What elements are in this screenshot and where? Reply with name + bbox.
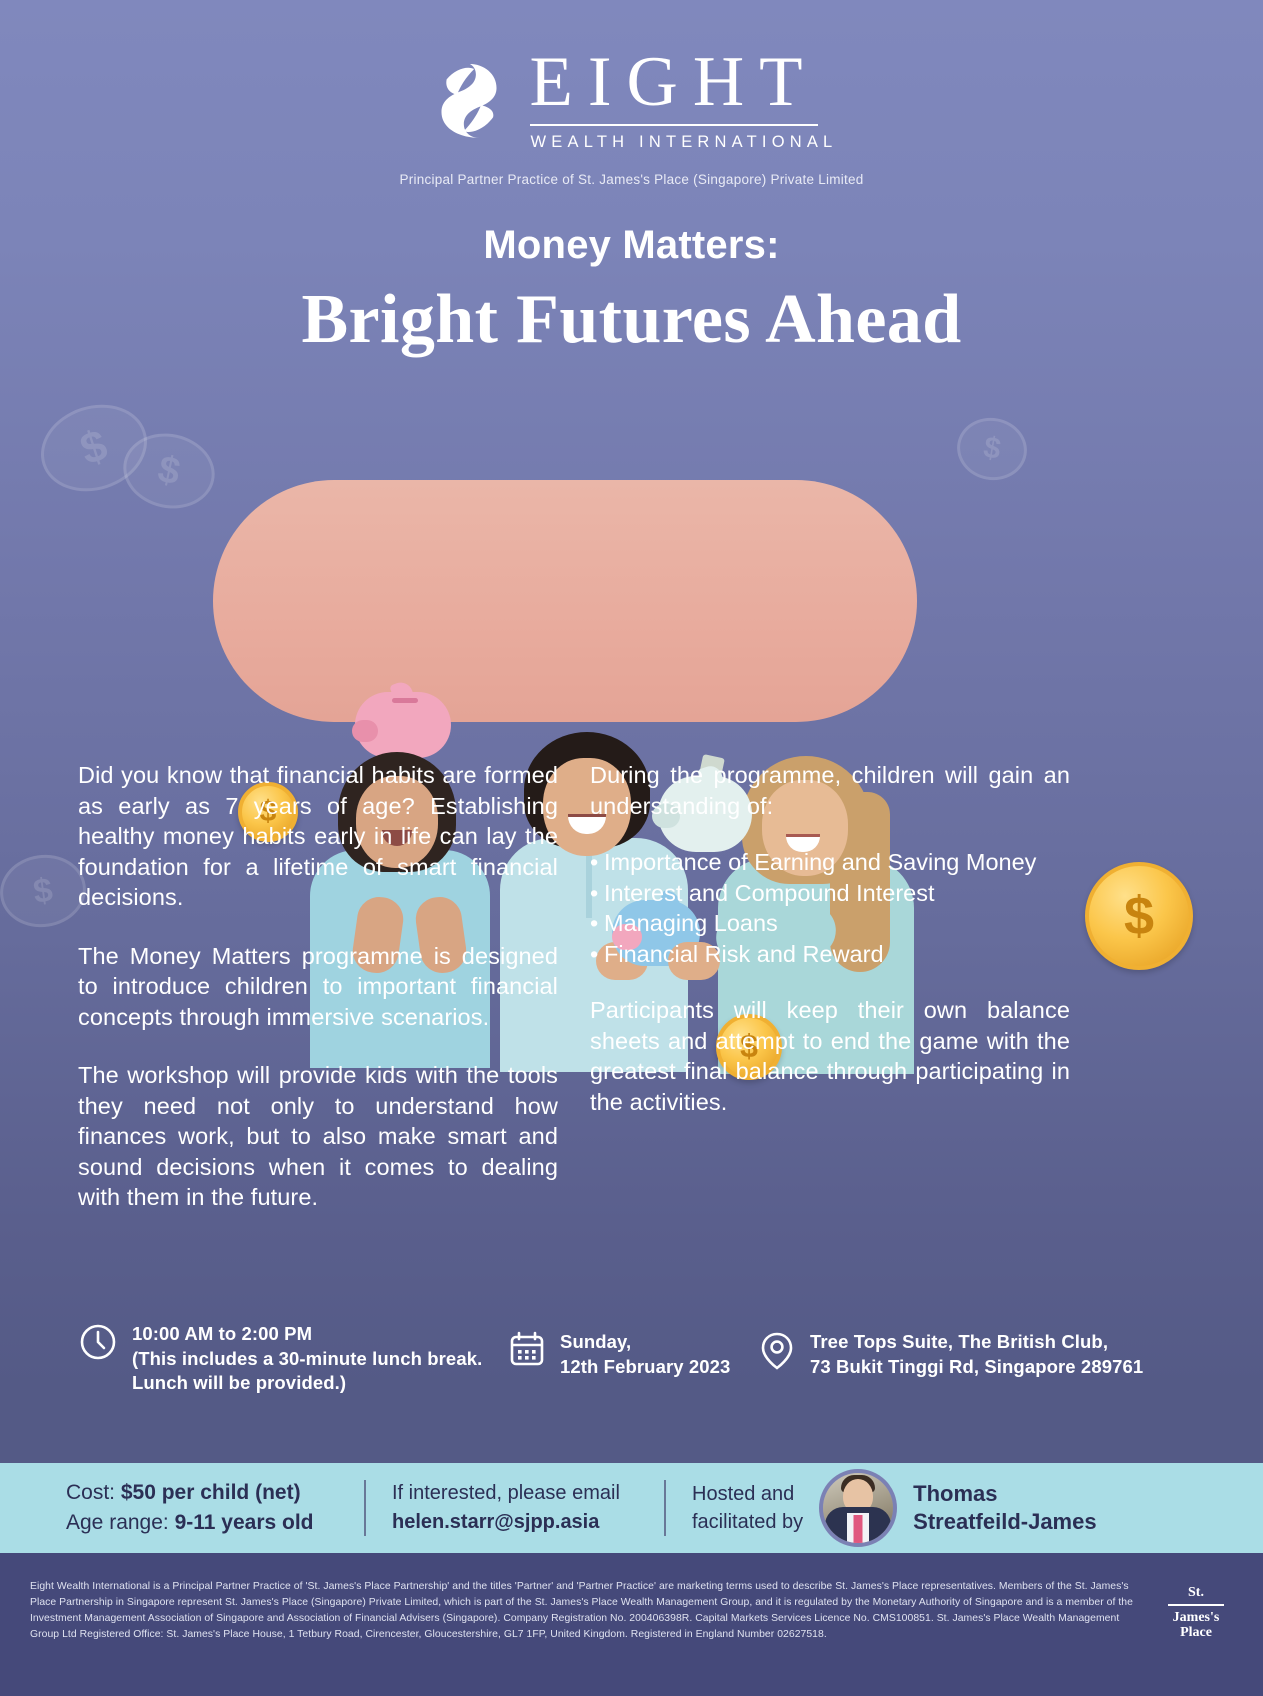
learning-outcomes-list: Importance of Earning and Saving Money I… [590, 847, 1070, 969]
band-divider [364, 1480, 366, 1536]
event-date: Sunday, 12th February 2023 [508, 1322, 758, 1379]
calendar-icon [508, 1330, 546, 1373]
list-item: Interest and Compound Interest [590, 878, 1070, 909]
band-divider [664, 1480, 666, 1536]
event-time-text: 10:00 AM to 2:00 PM (This includes a 30-… [132, 1322, 482, 1396]
poster-header: EIGHT WEALTH INTERNATIONAL Principal Par… [0, 0, 1263, 187]
legal-disclaimer: Eight Wealth International is a Principa… [0, 1553, 1263, 1696]
principal-partner-line: Principal Partner Practice of St. James'… [0, 172, 1263, 187]
host-name-line-2: Streatfeild-James [913, 1509, 1096, 1534]
cost-block: Cost: $50 per child (net) Age range: 9-1… [66, 1478, 338, 1538]
st-james-place-logo: St. James's Place [1159, 1585, 1233, 1640]
contact-block: If interested, please email helen.starr@… [392, 1479, 638, 1537]
host-name-line-1: Thomas [913, 1481, 997, 1506]
brand-wordmark: EIGHT WEALTH INTERNATIONAL [526, 48, 838, 152]
host-block: Hosted and facilitated by Thomas Streatf… [692, 1469, 1097, 1547]
eight-pinwheel-icon [426, 57, 512, 143]
body-column-left: Did you know that financial habits are f… [78, 760, 558, 1241]
paragraph: Did you know that financial habits are f… [78, 760, 558, 913]
hero-backdrop-shape [213, 480, 917, 722]
paragraph: The Money Matters programme is designed … [78, 941, 558, 1033]
list-item: Importance of Earning and Saving Money [590, 847, 1070, 878]
sjp-divider [1168, 1604, 1224, 1606]
host-label: Hosted and facilitated by [692, 1480, 803, 1536]
host-label-line-2: facilitated by [692, 1511, 803, 1533]
contact-email[interactable]: helen.starr@sjpp.asia [392, 1508, 620, 1537]
avatar-tie [854, 1515, 863, 1543]
body-columns: Did you know that financial habits are f… [0, 760, 1263, 1241]
age-line: Age range: 9-11 years old [66, 1508, 314, 1538]
pink-piggy-snout [352, 720, 378, 742]
time-line-1: 10:00 AM to 2:00 PM [132, 1323, 312, 1344]
hero-photo: $ $ $ [0, 352, 1263, 682]
pink-piggy-slot [392, 698, 418, 703]
contact-prompt: If interested, please email [392, 1479, 620, 1508]
host-label-line-1: Hosted and [692, 1483, 794, 1505]
sjp-line-3: Place [1159, 1625, 1233, 1640]
poster-root: $ $ $ $ EIGHT WEALTH INTERNATIONAL Princ… [0, 0, 1263, 1696]
title-eyebrow: Money Matters: [0, 223, 1263, 268]
event-time: 10:00 AM to 2:00 PM (This includes a 30-… [78, 1322, 508, 1396]
host-name: Thomas Streatfeild-James [913, 1480, 1096, 1536]
paragraph: The workshop will provide kids with the … [78, 1060, 558, 1213]
avatar [819, 1469, 897, 1547]
time-line-2: (This includes a 30-minute lunch break. [132, 1348, 482, 1369]
event-location: Tree Tops Suite, The British Club, 73 Bu… [758, 1322, 1185, 1379]
age-label: Age range: [66, 1511, 175, 1534]
date-line-1: Sunday, [560, 1331, 631, 1352]
cost-value: $50 per child (net) [121, 1481, 301, 1504]
location-line-1: Tree Tops Suite, The British Club, [810, 1331, 1108, 1352]
event-location-text: Tree Tops Suite, The British Club, 73 Bu… [810, 1330, 1143, 1379]
date-line-2: 12th February 2023 [560, 1356, 730, 1377]
cost-label: Cost: [66, 1481, 121, 1504]
learning-intro: During the programme, children will gain… [590, 760, 1070, 821]
list-item: Managing Loans [590, 908, 1070, 939]
sjp-line-1: St. [1159, 1585, 1233, 1600]
brand-name: EIGHT [526, 48, 838, 118]
registration-band: Cost: $50 per child (net) Age range: 9-1… [0, 1463, 1263, 1553]
location-line-2: 73 Bukit Tinggi Rd, Singapore 289761 [810, 1356, 1143, 1377]
brand-logo: EIGHT WEALTH INTERNATIONAL [0, 48, 1263, 152]
clock-icon [78, 1322, 118, 1367]
legal-text: Eight Wealth International is a Principa… [30, 1579, 1139, 1643]
sjp-line-2: James's [1159, 1610, 1233, 1625]
time-line-3: Lunch will be provided.) [132, 1372, 346, 1393]
brand-divider [530, 124, 818, 126]
event-date-text: Sunday, 12th February 2023 [560, 1330, 730, 1379]
paragraph: Participants will keep their own balance… [590, 995, 1070, 1117]
list-item: Financial Risk and Reward [590, 939, 1070, 970]
map-pin-icon [758, 1330, 796, 1377]
brand-tagline: WEALTH INTERNATIONAL [526, 133, 838, 152]
body-column-right: During the programme, children will gain… [590, 760, 1070, 1241]
page-title: Bright Futures Ahead [0, 280, 1263, 360]
event-details-row: 10:00 AM to 2:00 PM (This includes a 30-… [0, 1322, 1263, 1396]
age-value: 9-11 years old [175, 1511, 314, 1534]
cost-line: Cost: $50 per child (net) [66, 1478, 314, 1508]
